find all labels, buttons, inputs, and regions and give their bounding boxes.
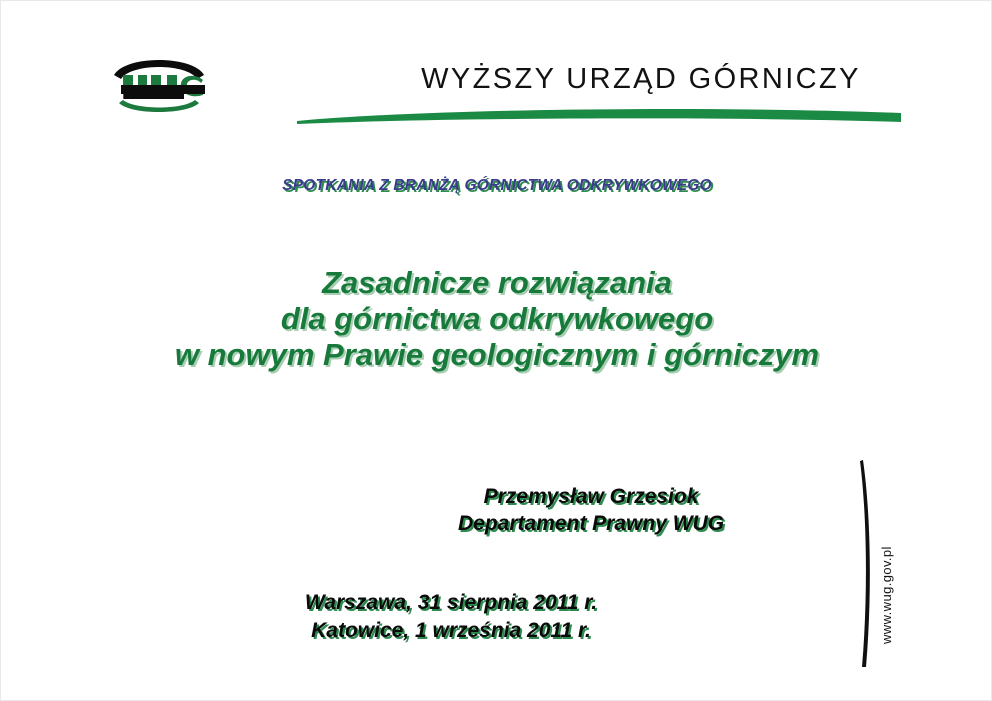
title-line-1: Zasadnicze rozwiązania: [1, 265, 992, 301]
title-line-2: dla górnictwa odkrywkowego: [1, 301, 992, 337]
website-url[interactable]: www.wug.gov.pl: [879, 484, 899, 644]
green-swoosh-divider: [297, 105, 901, 131]
author-block: Przemysław Grzesiok Departament Prawny W…: [331, 483, 851, 537]
author-department: Departament Prawny WUG: [331, 510, 851, 537]
website-rail: www.wug.gov.pl: [857, 456, 917, 671]
slide-header: WYŻSZY URZĄD GÓRNICZY: [1, 1, 992, 141]
event-subtitle: SPOTKANIA Z BRANŻĄ GÓRNICTWA ODKRYWKOWEG…: [1, 177, 992, 195]
title-line-3: w nowym Prawie geologicznym i górniczym: [1, 337, 992, 373]
venue-line-warszawa: Warszawa, 31 sierpnia 2011 r.: [101, 589, 801, 617]
page-title: Zasadnicze rozwiązania dla górnictwa odk…: [1, 265, 992, 373]
organization-title: WYŻSZY URZĄD GÓRNICZY: [381, 63, 901, 96]
venue-block: Warszawa, 31 sierpnia 2011 r. Katowice, …: [101, 589, 801, 645]
author-name: Przemysław Grzesiok: [331, 483, 851, 510]
wug-logo-icon: [111, 53, 207, 117]
presentation-slide: WYŻSZY URZĄD GÓRNICZY SPOTKANIA Z BRANŻĄ…: [0, 0, 992, 701]
venue-line-katowice: Katowice, 1 września 2011 r.: [101, 617, 801, 645]
